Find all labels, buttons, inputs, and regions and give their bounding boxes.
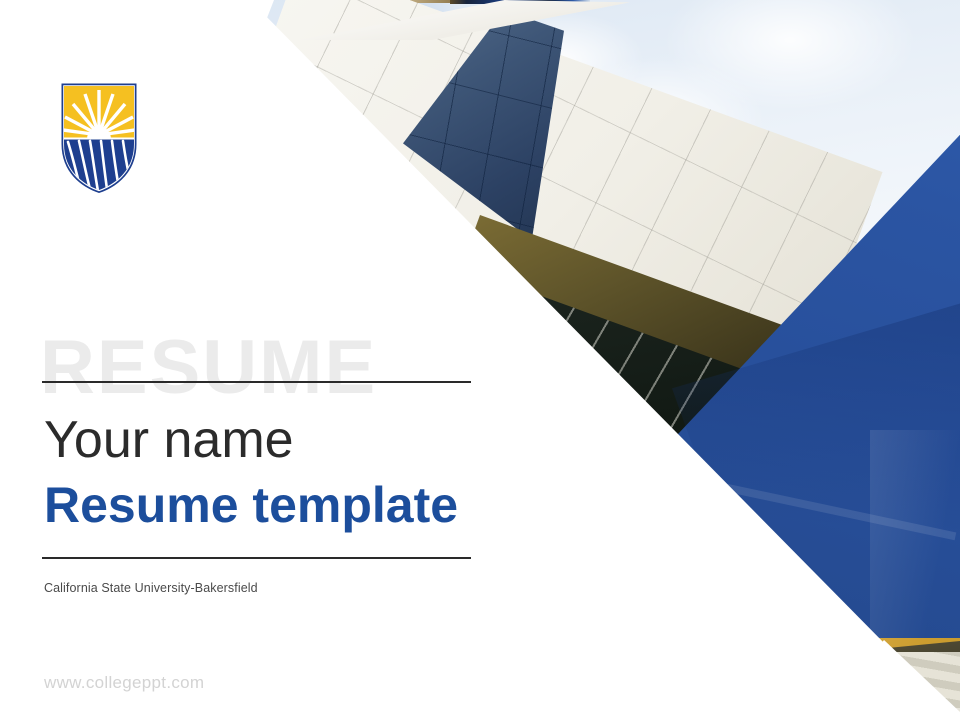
slide-canvas: RESUME Your name Resume template Califor… [0, 0, 960, 720]
divider-top [42, 381, 471, 383]
resume-watermark: RESUME [40, 330, 377, 406]
university-name: California State University-Bakersfield [44, 581, 258, 595]
divider-bottom [42, 557, 471, 559]
slide-subtitle: Resume template [44, 478, 458, 532]
csub-shield-logo [60, 82, 138, 194]
blue-mass-highlight [870, 430, 960, 660]
candidate-name: Your name [44, 412, 294, 468]
title-content: RESUME Your name Resume template Califor… [0, 0, 520, 720]
footer-website-url: www.collegeppt.com [44, 673, 204, 693]
